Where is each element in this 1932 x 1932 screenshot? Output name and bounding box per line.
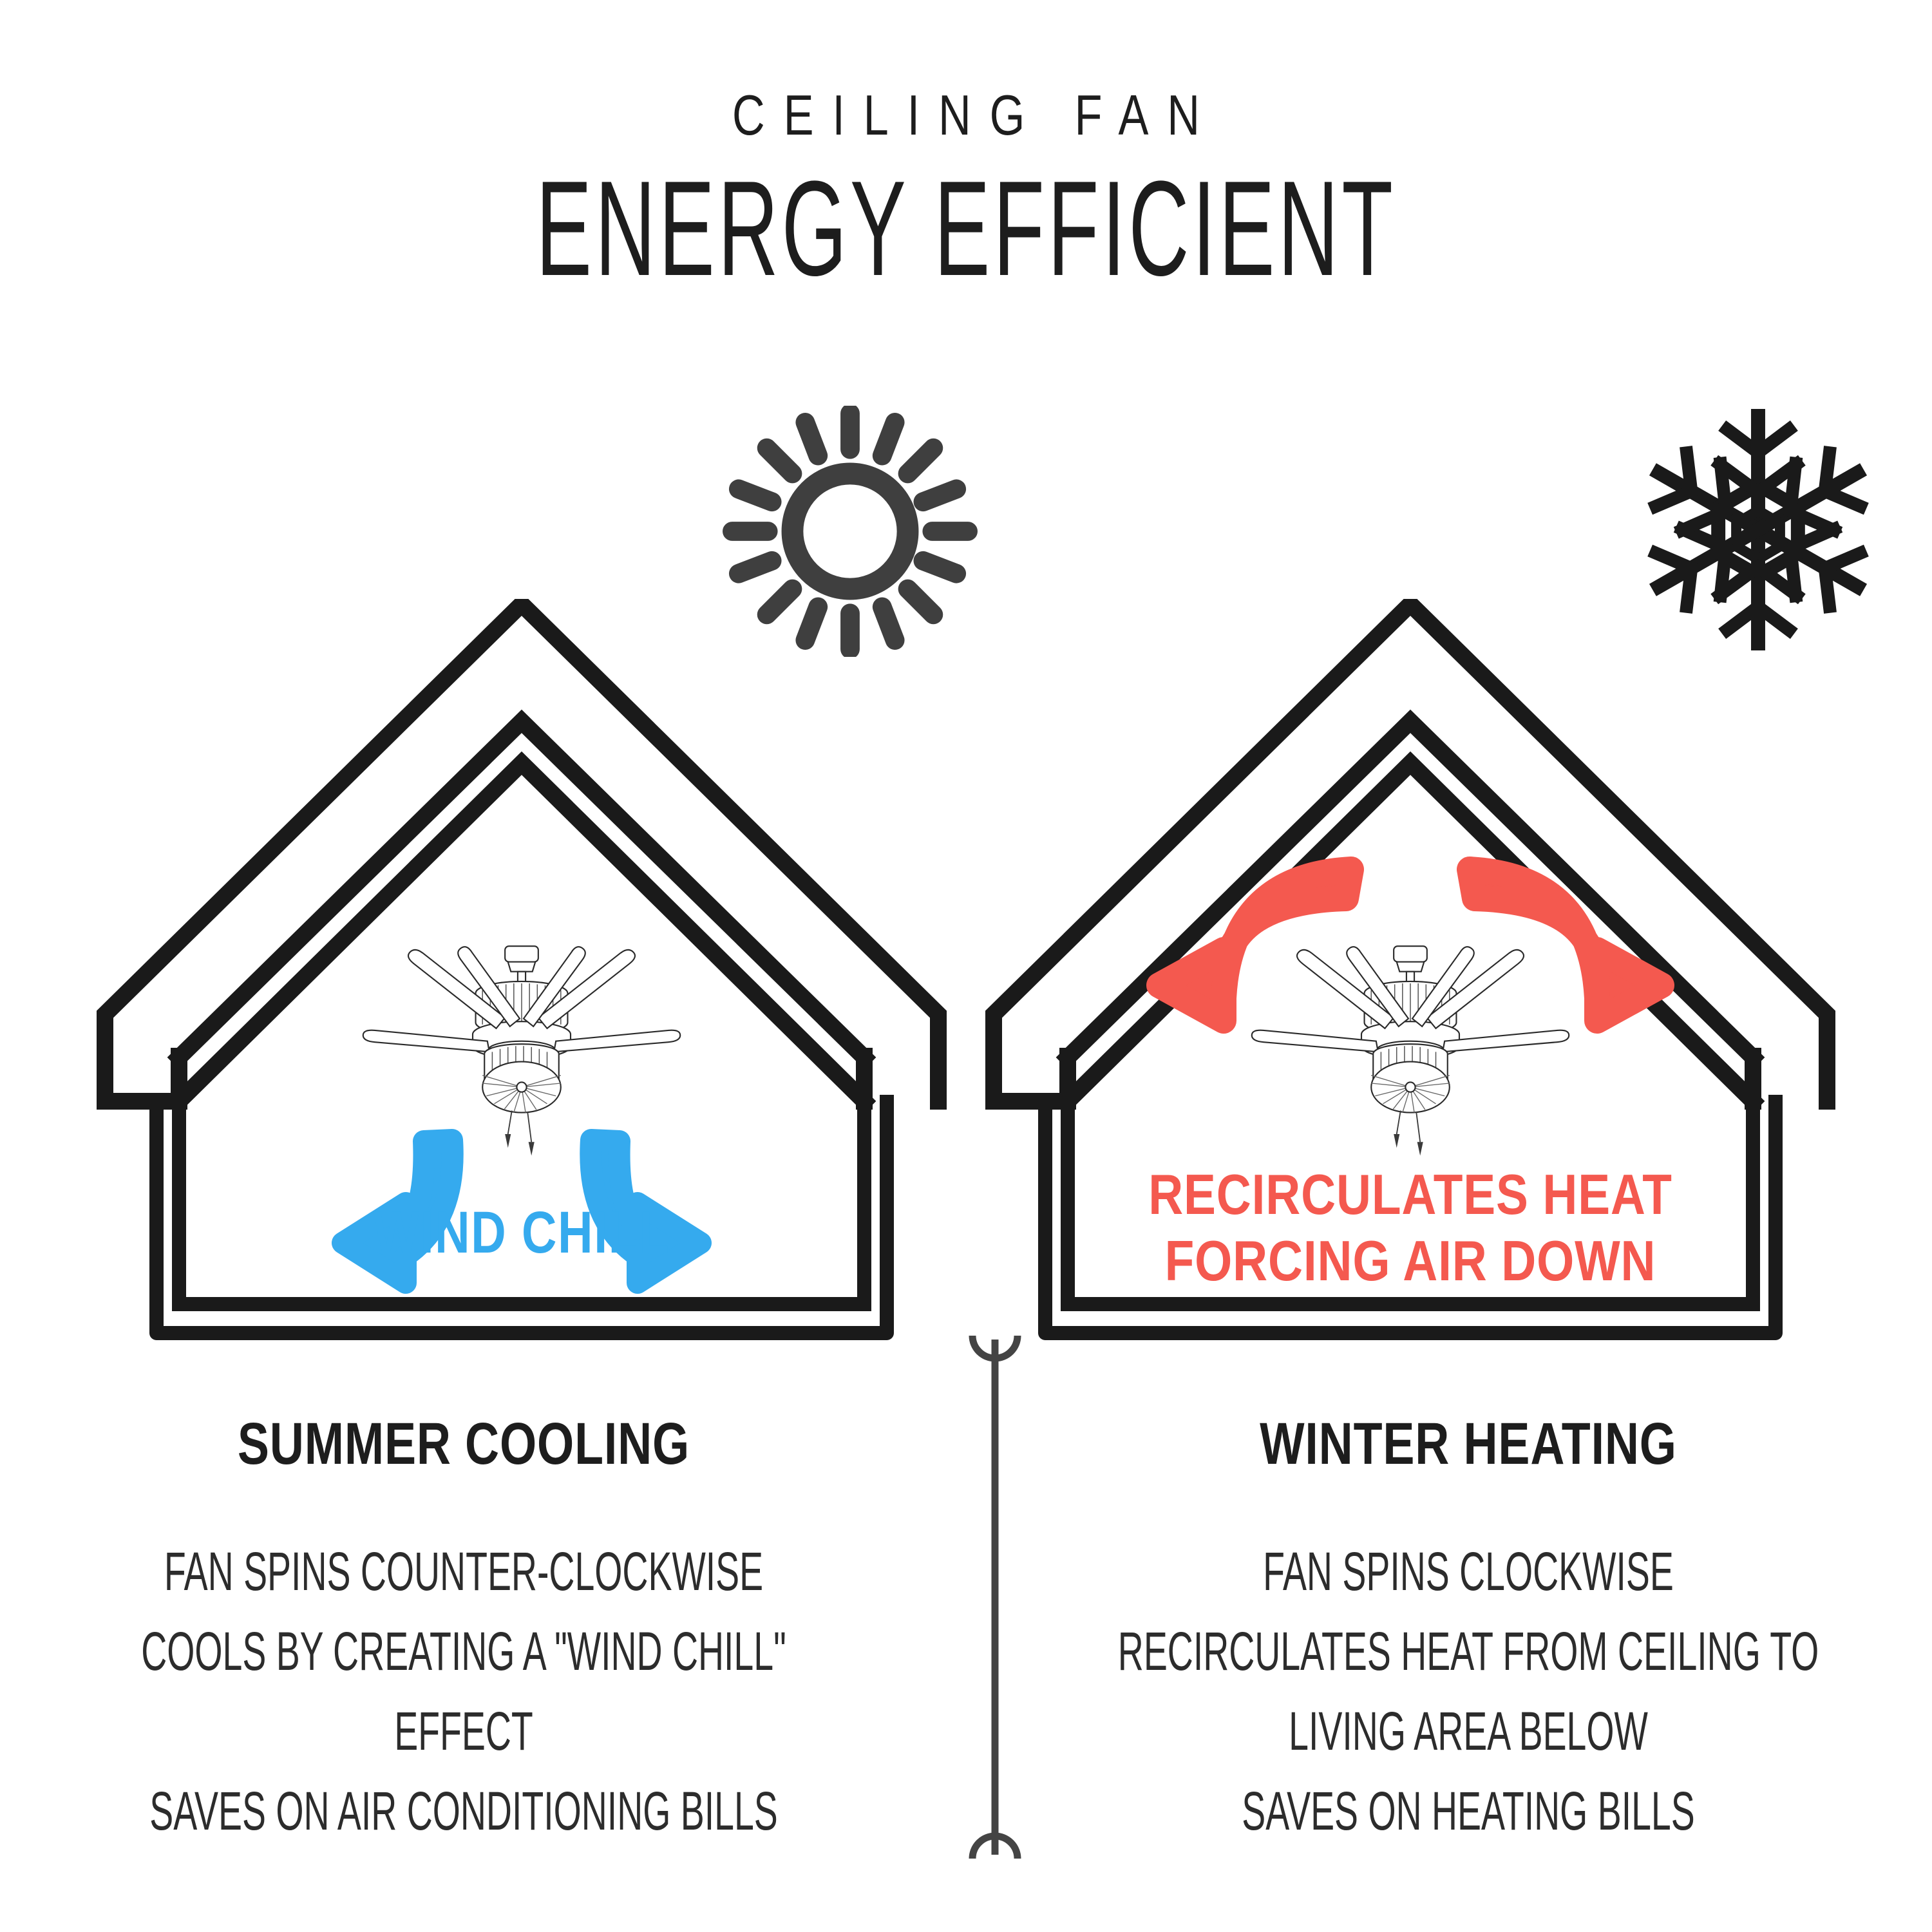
ceiling-fan-icon bbox=[363, 946, 680, 1155]
summer-line-3: EFFECT bbox=[39, 1691, 889, 1771]
vertical-divider bbox=[947, 1327, 1043, 1868]
summer-description: FAN SPINS COUNTER-CLOCKWISE COOLS BY CRE… bbox=[39, 1531, 889, 1851]
summer-house-diagram: WIND CHILL bbox=[71, 599, 972, 1346]
summer-line-2: COOLS BY CREATING A "WIND CHILL" bbox=[39, 1611, 889, 1691]
recirculates-heat-label-line-2: FORCING AIR DOWN bbox=[1165, 1229, 1656, 1293]
summer-line-4: SAVES ON AIR CONDITIONING BILLS bbox=[39, 1771, 889, 1851]
recirculates-heat-label-line-1: RECIRCULATES HEAT bbox=[1148, 1163, 1672, 1226]
winter-description: FAN SPINS CLOCKWISE RECIRCULATES HEAT FR… bbox=[1043, 1531, 1893, 1851]
winter-heating-title: WINTER HEATING bbox=[1097, 1410, 1839, 1478]
wind-chill-label: WIND CHILL bbox=[374, 1199, 670, 1265]
winter-line-2: RECIRCULATES HEAT FROM CEILING TO bbox=[1043, 1611, 1893, 1691]
winter-line-4: SAVES ON HEATING BILLS bbox=[1043, 1771, 1893, 1851]
summer-line-1: FAN SPINS COUNTER-CLOCKWISE bbox=[39, 1531, 889, 1611]
winter-house-diagram: RECIRCULATES HEAT FORCING AIR DOWN bbox=[960, 599, 1861, 1346]
winter-line-1: FAN SPINS CLOCKWISE bbox=[1043, 1531, 1893, 1611]
ceiling-fan-icon bbox=[1252, 946, 1569, 1155]
winter-line-3: LIVING AREA BELOW bbox=[1043, 1691, 1893, 1771]
infographic-canvas: CEILING FAN ENERGY EFFICIENT bbox=[0, 0, 1932, 1932]
summer-cooling-title: SUMMER COOLING bbox=[93, 1410, 835, 1478]
